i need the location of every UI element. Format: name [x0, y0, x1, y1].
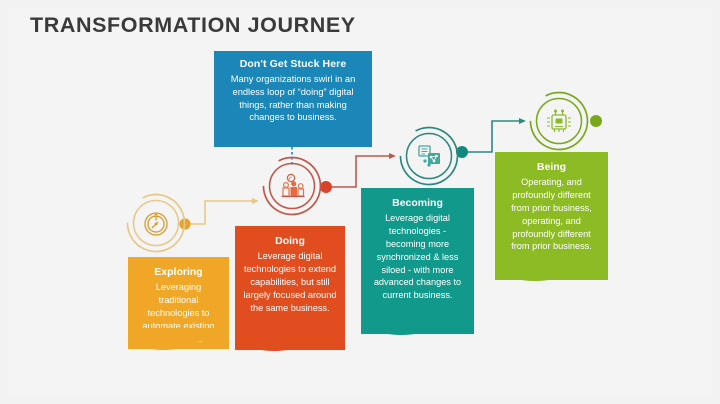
- stage-body-being: Operating, and profoundly different from…: [502, 176, 601, 253]
- slide-canvas: TRANSFORMATION JOURNEY Don't Get Stuck H…: [0, 0, 720, 404]
- card-wave-exploring: [128, 328, 229, 350]
- stage-title-exploring: Exploring: [135, 266, 222, 278]
- stage-icon-being[interactable]: [528, 90, 590, 152]
- stage-icon-becoming[interactable]: [398, 125, 460, 187]
- stage-card-becoming: Becoming Leverage digital technologies -…: [361, 188, 474, 334]
- card-wave-becoming: [361, 313, 474, 335]
- page-title: TRANSFORMATION JOURNEY: [30, 13, 356, 38]
- stage-title-becoming: Becoming: [368, 197, 467, 209]
- team-meeting-icon: [282, 174, 305, 196]
- compass-icon: [145, 213, 167, 235]
- callout-title: Don't Get Stuck Here: [223, 58, 363, 70]
- stage-icon-doing[interactable]: [261, 155, 323, 217]
- stage-title-being: Being: [502, 161, 601, 173]
- inner-ring-doing: [270, 164, 315, 209]
- callout-dont-get-stuck-here: Don't Get Stuck Here Many organizations …: [214, 51, 372, 147]
- stage-title-doing: Doing: [242, 235, 338, 247]
- outer-ring-doing: [261, 155, 323, 217]
- stage-card-doing: Doing Leverage digital technologies to e…: [235, 226, 345, 350]
- callout-body: Many organizations swirl in an endless l…: [223, 73, 363, 124]
- card-wave-being: [495, 259, 608, 281]
- stage-card-being: Being Operating, and profoundly differen…: [495, 152, 608, 280]
- stage-body-doing: Leverage digital technologies to extend …: [242, 250, 338, 314]
- stage-body-becoming: Leverage digital technologies - becoming…: [368, 212, 467, 302]
- stage-card-exploring: Exploring Leveraging traditional technol…: [128, 257, 229, 349]
- stage-icon-exploring[interactable]: [125, 192, 187, 254]
- robot-ai-icon: [547, 110, 571, 133]
- network-documents-icon: [419, 146, 440, 167]
- card-wave-doing: [235, 329, 345, 351]
